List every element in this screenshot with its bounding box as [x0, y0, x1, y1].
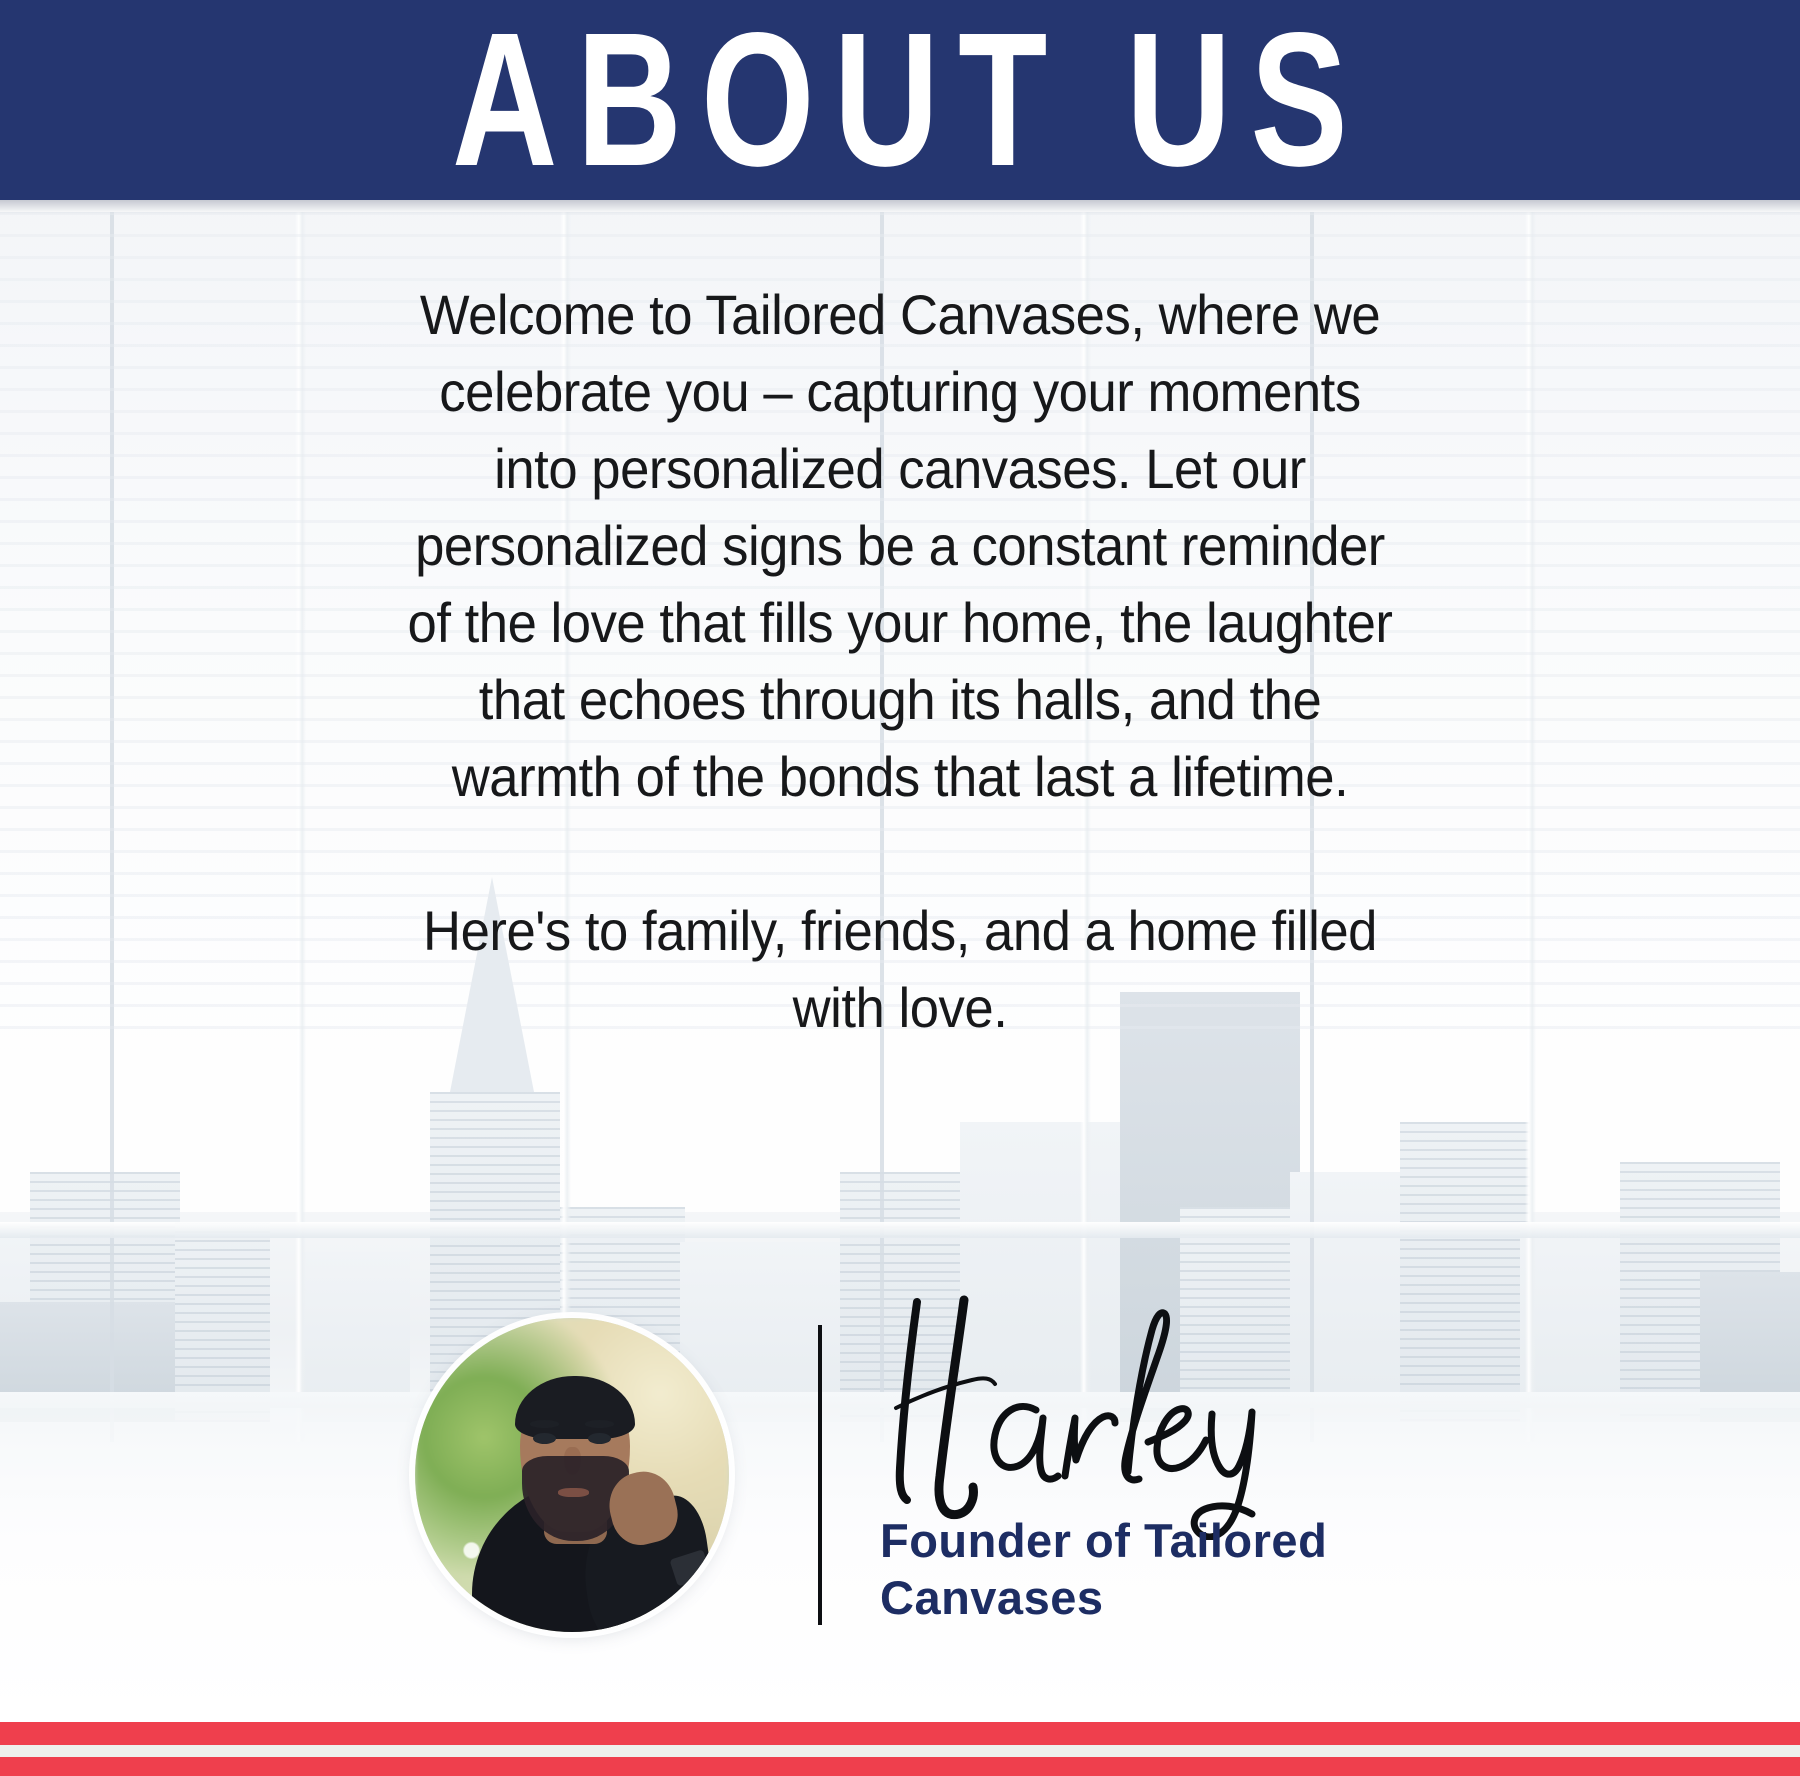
portrait-eyebrow — [530, 1420, 560, 1428]
body-line: warmth of the bonds that last a lifetime… — [242, 738, 1558, 815]
about-us-page: ABOUT US Welcome to Tailored Canvases, w… — [0, 0, 1800, 1776]
founder-signature — [860, 1290, 1330, 1540]
body-line: Here's to family, friends, and a home fi… — [242, 892, 1558, 969]
window-rail — [0, 1222, 1800, 1238]
header-shadow — [0, 200, 1800, 214]
portrait-eye — [588, 1433, 612, 1444]
body-line: personalized signs be a constant reminde… — [242, 507, 1558, 584]
footer-stripe-upper — [0, 1722, 1800, 1745]
portrait-mouth — [558, 1488, 589, 1497]
body-line: into personalized canvases. Let our — [242, 430, 1558, 507]
footer-stripe-lower — [0, 1757, 1800, 1776]
portrait-eye — [533, 1433, 557, 1444]
body-line: that echoes through its halls, and the — [242, 661, 1558, 738]
signature-divider-line — [818, 1325, 822, 1625]
header-band: ABOUT US — [0, 0, 1800, 200]
portrait-eyebrow — [585, 1420, 615, 1428]
body-line: Welcome to Tailored Canvases, where we — [242, 276, 1558, 353]
about-us-body-text: Welcome to Tailored Canvases, where we c… — [242, 276, 1558, 1046]
founder-role-line-2: Canvases — [880, 1569, 1440, 1626]
founder-role-line-1: Founder of Tailored — [880, 1512, 1440, 1569]
founder-portrait-avatar — [415, 1318, 729, 1632]
page-title: ABOUT US — [433, 5, 1367, 195]
paragraph-gap — [242, 815, 1558, 892]
signature-block: Founder of Tailored Canvases — [0, 1300, 1800, 1700]
body-line: celebrate you – capturing your moments — [242, 353, 1558, 430]
body-line: with love. — [242, 969, 1558, 1046]
body-line: of the love that fills your home, the la… — [242, 584, 1558, 661]
founder-role: Founder of Tailored Canvases — [880, 1512, 1440, 1626]
footer-stripe-gap — [0, 1745, 1800, 1757]
